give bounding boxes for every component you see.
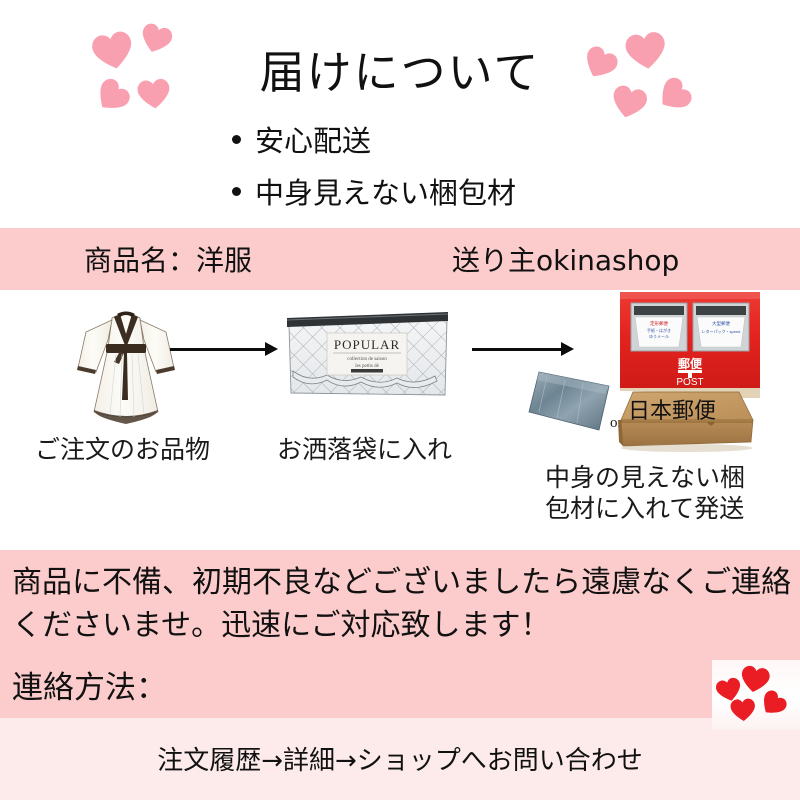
mesh-pouch-illustration: POPULAR collection de saison les petits …	[285, 309, 451, 399]
list-item-label: 安心配送	[255, 118, 371, 160]
flow-caption-3: 中身の見えない梱 包材に入れて発送	[545, 462, 745, 524]
bullet-dot-icon	[232, 135, 241, 144]
silver-mailer-illustration	[525, 368, 617, 436]
svg-text:大型郵便: 大型郵便	[712, 320, 730, 327]
contact-method-path: 注文履歴→詳細→ショップへお問い合わせ	[0, 740, 800, 777]
flow-caption-3-line1: 中身の見えない梱	[545, 462, 745, 493]
red-heart-cluster	[712, 660, 800, 730]
svg-text:collection de saison: collection de saison	[347, 357, 387, 362]
packaging-flow-section: POPULAR collection de saison les petits …	[0, 290, 800, 550]
svg-text:レターパック・speed: レターパック・speed	[702, 328, 741, 334]
dress-illustration	[62, 304, 190, 426]
svg-text:les petits dé: les petits dé	[355, 364, 379, 369]
header-section: 届けについて 安心配送 中身見えない梱包材	[0, 0, 800, 228]
flow-caption-2: お洒落袋に入れ	[277, 430, 452, 466]
flow-caption-3-line2: 包材に入れて発送	[545, 493, 745, 524]
postbox-en-text: POST	[676, 377, 703, 388]
flow-caption-1: ご注文のお品物	[35, 430, 210, 466]
contact-method-label: 連絡方法：	[12, 662, 167, 707]
heart-icon	[729, 697, 757, 723]
feature-list: 安心配送 中身見えない梱包材	[232, 118, 752, 222]
right-arrow-icon	[472, 342, 574, 356]
svg-text:ゆうメール: ゆうメール	[649, 333, 669, 339]
bullet-dot-icon	[232, 187, 241, 196]
footer-section: 商品に不備、初期不良などございましたら遠慮なくご連絡くださいませ。迅速にご対応致…	[0, 550, 800, 800]
svg-text:POPULAR: POPULAR	[334, 337, 400, 352]
postbox-illustration: 定形郵便 手紙・はがき ゆうメール 大型郵便 レターパック・speed 郵便 P…	[618, 290, 762, 398]
svg-text:手紙・はがき: 手紙・はがき	[647, 327, 671, 333]
delivery-info-banner: 届けについて 安心配送 中身見えない梱包材 商品名：洋服 送り主okinasho…	[0, 0, 800, 800]
sender-name-label: 送り主okinashop	[452, 239, 679, 279]
list-item-label: 中身見えない梱包材	[255, 170, 516, 212]
postbox-jp-text: 郵便	[678, 357, 702, 371]
product-name-label: 商品名：洋服	[84, 239, 252, 279]
list-item: 中身見えない梱包材	[232, 170, 752, 212]
list-item: 安心配送	[232, 118, 752, 160]
defect-notice-text: 商品に不備、初期不良などございましたら遠慮なくご連絡くださいませ。迅速にご対応致…	[12, 562, 792, 647]
product-info-band: 商品名：洋服 送り主okinashop	[0, 228, 800, 290]
right-arrow-icon	[170, 342, 278, 356]
japan-post-label: 日本郵便	[628, 393, 716, 425]
svg-text:定形郵便: 定形郵便	[650, 320, 668, 327]
page-title: 届けについて	[0, 36, 800, 101]
